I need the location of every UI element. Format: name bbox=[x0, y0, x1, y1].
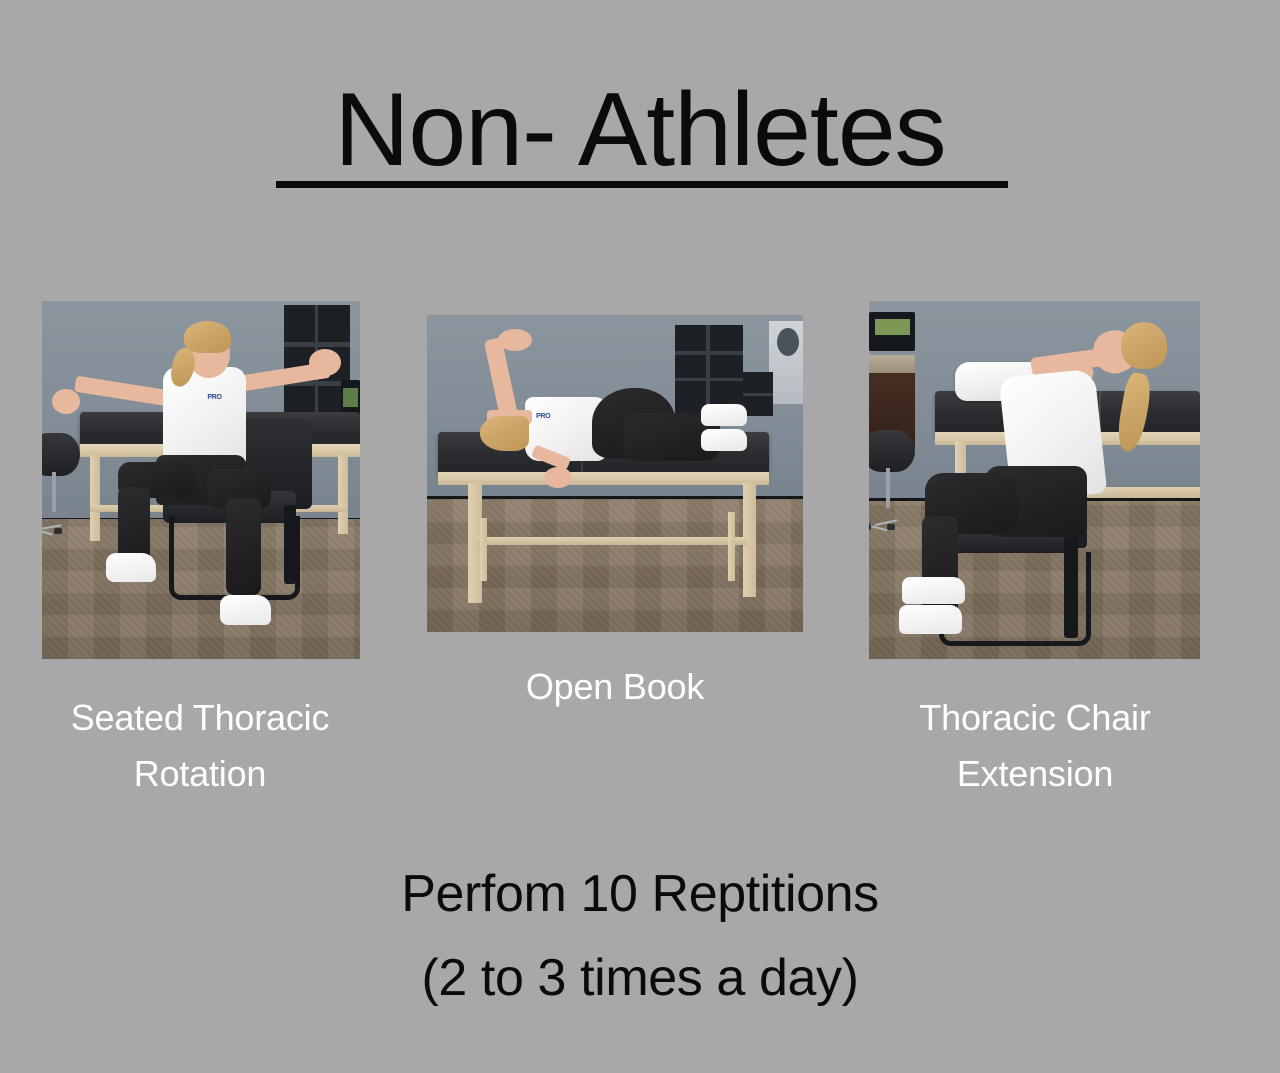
photo-scene bbox=[869, 301, 1200, 659]
person-shin-right bbox=[226, 498, 261, 595]
stool-base bbox=[42, 508, 80, 534]
instructions-line-2: (2 to 3 times a day) bbox=[0, 936, 1280, 1020]
person-shoe-bottom bbox=[701, 429, 746, 451]
shirt-logo: PRO bbox=[207, 394, 221, 401]
person-hair bbox=[480, 416, 529, 451]
caption-line-2: Extension bbox=[855, 746, 1215, 802]
rolling-stool bbox=[42, 433, 80, 533]
background-shelf-unit bbox=[675, 325, 743, 414]
person-hair bbox=[1121, 322, 1167, 369]
person-shoe-top bbox=[701, 404, 746, 426]
background-utility-cart bbox=[743, 372, 773, 416]
caption-line-1: Thoracic Chair bbox=[855, 690, 1215, 746]
caption-seated-thoracic-rotation: Seated Thoracic Rotation bbox=[20, 690, 380, 802]
person-bottom-hand bbox=[544, 467, 572, 488]
person-shoe-left bbox=[106, 553, 157, 582]
person-shoe-front bbox=[899, 605, 962, 634]
person-shoe-back bbox=[902, 577, 965, 604]
caption-line-1: Seated Thoracic bbox=[20, 690, 380, 746]
chair-leg-rear bbox=[284, 505, 297, 584]
treatment-table-leg-right bbox=[338, 455, 348, 534]
treatment-table-rail bbox=[476, 537, 747, 545]
caption-open-book: Open Book bbox=[425, 659, 805, 715]
caption-line-2: Rotation bbox=[20, 746, 380, 802]
instructions-block: Perfom 10 Reptitions (2 to 3 times a day… bbox=[0, 852, 1280, 1020]
photo-scene: PRO bbox=[427, 315, 803, 632]
treatment-table-brace-left bbox=[480, 518, 488, 581]
caption-line-1: Open Book bbox=[425, 659, 805, 715]
exercise-photo-thoracic-chair-extension bbox=[869, 301, 1200, 659]
person-right-hand bbox=[309, 349, 341, 376]
caption-thoracic-chair-extension: Thoracic Chair Extension bbox=[855, 690, 1215, 802]
rolling-stool bbox=[869, 430, 915, 530]
person-left-hand bbox=[52, 389, 81, 414]
treatment-table-brace-right bbox=[728, 512, 736, 582]
title-underline bbox=[276, 181, 1008, 188]
person-shoe-right bbox=[220, 595, 271, 625]
page-title: Non- Athletes bbox=[334, 78, 945, 182]
treatment-table-apron bbox=[438, 472, 769, 485]
exercise-photo-open-book: PRO bbox=[427, 315, 803, 632]
shirt-logo: PRO bbox=[536, 413, 550, 420]
instructions-line-1: Perfom 10 Reptitions bbox=[0, 852, 1280, 936]
stool-base bbox=[869, 504, 915, 530]
chair-leg-rear bbox=[1064, 537, 1077, 637]
page-title-container: Non- Athletes bbox=[0, 78, 1280, 182]
background-wall-keypad bbox=[869, 312, 915, 351]
photo-scene: PRO bbox=[42, 301, 360, 659]
slide-canvas: Non- Athletes bbox=[0, 0, 1280, 1073]
exercise-photo-seated-thoracic-rotation: PRO bbox=[42, 301, 360, 659]
person-hair bbox=[184, 321, 232, 353]
treatment-table-leg-left bbox=[90, 455, 100, 541]
